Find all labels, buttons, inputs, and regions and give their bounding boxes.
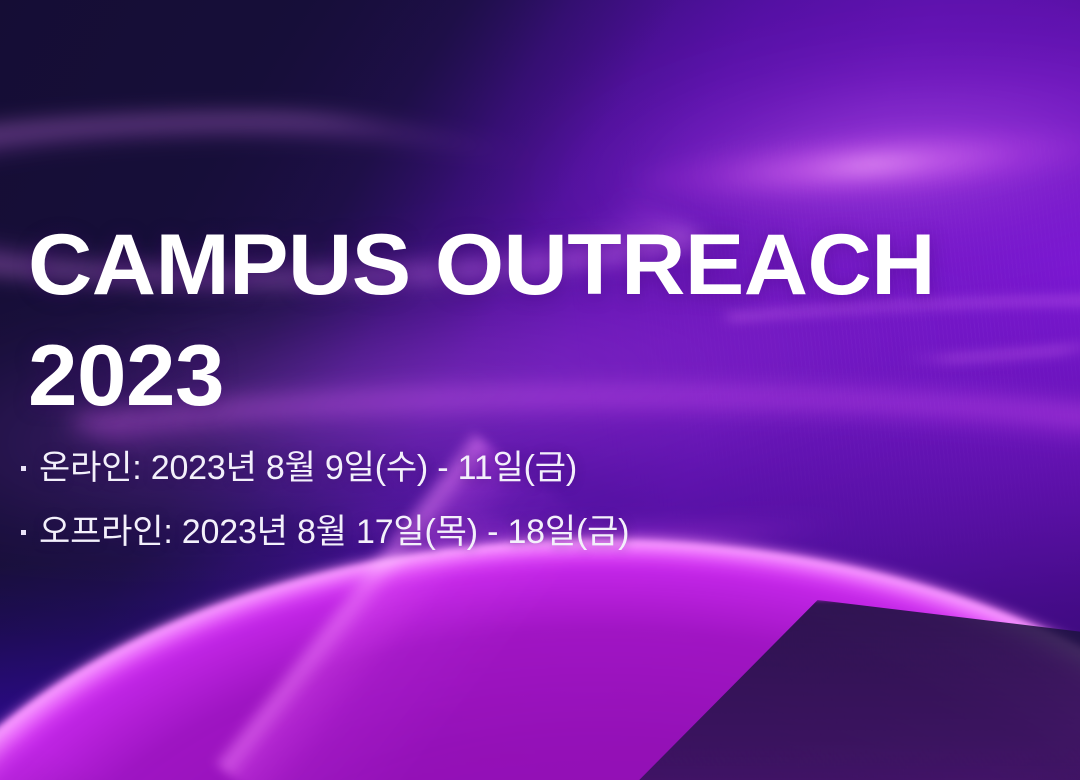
poster-canvas: Campus Outreach 2023 온라인: 2023년 8월 9일(수)… bbox=[0, 0, 1080, 780]
page-title: Campus Outreach 2023 bbox=[28, 210, 1073, 432]
list-item: 오프라인: 2023년 8월 17일(목) - 18일(금) bbox=[18, 500, 1058, 564]
middot-bullet-icon bbox=[21, 466, 26, 471]
event-date-list: 온라인: 2023년 8월 9일(수) - 11일(금) 오프라인: 2023년… bbox=[18, 436, 1058, 564]
middot-bullet-icon bbox=[21, 530, 26, 535]
poster-content: Campus Outreach 2023 온라인: 2023년 8월 9일(수)… bbox=[0, 0, 1080, 780]
list-item: 온라인: 2023년 8월 9일(수) - 11일(금) bbox=[18, 436, 1058, 500]
online-date-text: 온라인: 2023년 8월 9일(수) - 11일(금) bbox=[39, 436, 577, 500]
offline-date-text: 오프라인: 2023년 8월 17일(목) - 18일(금) bbox=[39, 500, 629, 564]
